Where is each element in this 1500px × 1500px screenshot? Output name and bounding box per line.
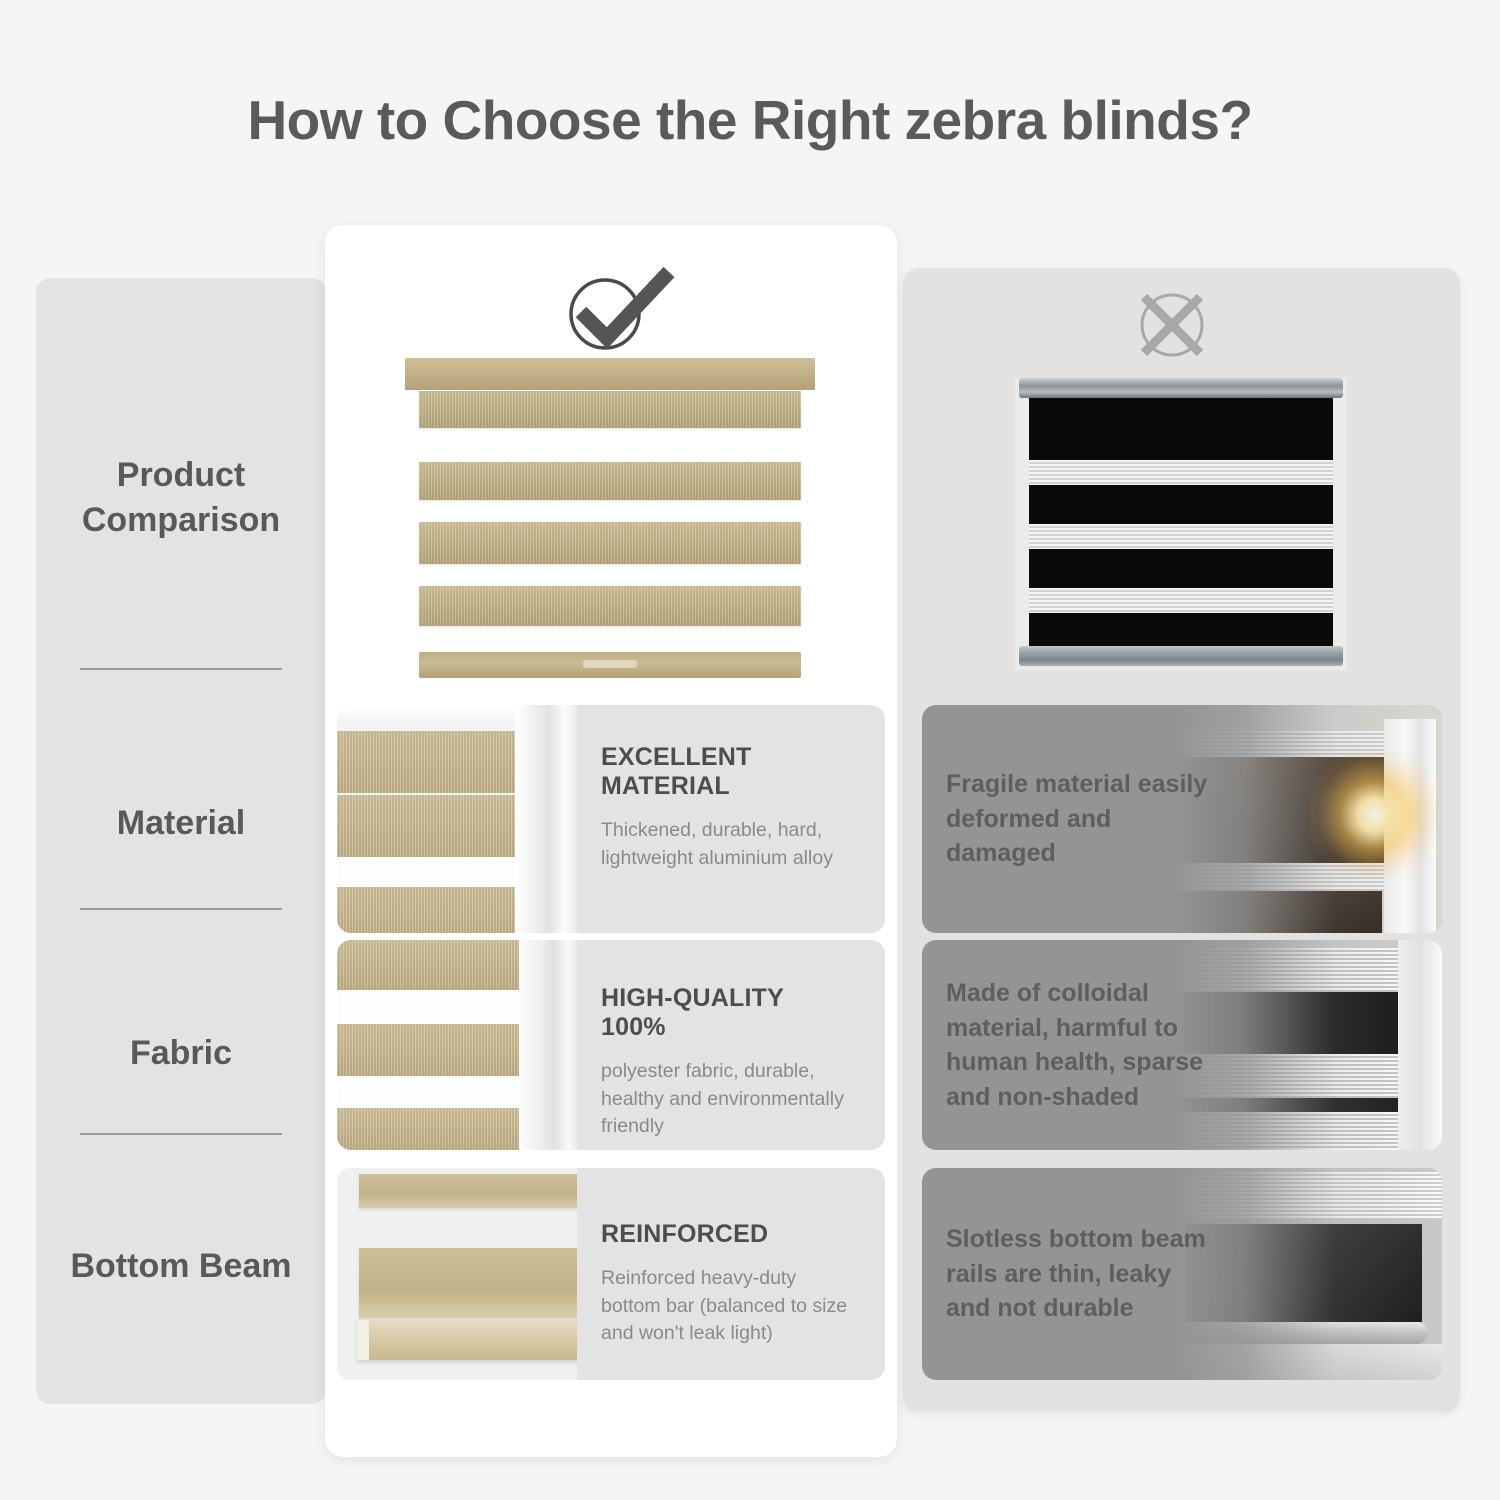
- blind-headrail: [1019, 378, 1343, 398]
- blind-headrail: [405, 358, 815, 390]
- feature-title: EXCELLENT MATERIAL: [601, 743, 855, 801]
- check-circle-icon: [551, 262, 681, 354]
- beige-blind-window-frame-photo: [337, 705, 577, 933]
- page-title: How to Choose the Right zebra blinds?: [0, 88, 1500, 152]
- good-feature-text: HIGH-QUALITY 100% polyester fabric, dura…: [577, 940, 885, 1150]
- blind-slat: [419, 586, 801, 626]
- bad-feature-material: Fragile material easily deformed and dam…: [922, 705, 1442, 933]
- beige-fabric-closeup-photo: [337, 940, 577, 1150]
- bad-feature-text: Slotless bottom beam rails are thin, lea…: [946, 1168, 1216, 1380]
- bad-feature-bottom-beam: Slotless bottom beam rails are thin, lea…: [922, 1168, 1442, 1380]
- row-label-fabric: Fabric: [36, 1003, 326, 1103]
- row-label-material: Material: [36, 773, 326, 873]
- blind-slat: [419, 522, 801, 564]
- row-divider: [80, 668, 282, 670]
- feature-description: Reinforced heavy-duty bottom bar (balanc…: [601, 1265, 855, 1348]
- feature-description: polyester fabric, durable, healthy and e…: [601, 1058, 855, 1141]
- blind-slat: [419, 391, 801, 428]
- bad-feature-text: Fragile material easily deformed and dam…: [946, 705, 1216, 933]
- feature-title: REINFORCED: [601, 1220, 855, 1249]
- bad-feature-fabric: Made of colloidal material, harmful to h…: [922, 940, 1442, 1150]
- blind-slat: [419, 462, 801, 500]
- good-feature-text: EXCELLENT MATERIAL Thickened, durable, h…: [577, 705, 885, 933]
- sheer-band: [1029, 460, 1333, 485]
- blind-grip: [583, 660, 637, 668]
- good-feature-material: EXCELLENT MATERIAL Thickened, durable, h…: [337, 705, 885, 933]
- sheer-band: [1029, 588, 1333, 613]
- feature-description: Thickened, durable, hard, lightweight al…: [601, 817, 855, 872]
- row-divider: [80, 1133, 282, 1135]
- good-feature-fabric: HIGH-QUALITY 100% polyester fabric, dura…: [337, 940, 885, 1150]
- reinforced-bottom-beam-photo: [337, 1168, 577, 1380]
- good-feature-bottom-beam: REINFORCED Reinforced heavy-duty bottom …: [337, 1168, 885, 1380]
- infographic-root: How to Choose the Right zebra blinds? Pr…: [0, 0, 1500, 1500]
- row-label-product-comparison: Product Comparison: [36, 428, 326, 568]
- bad-hero-blind-image: [1015, 378, 1347, 670]
- good-feature-text: REINFORCED Reinforced heavy-duty bottom …: [577, 1168, 885, 1380]
- row-divider: [80, 908, 282, 910]
- blind-bottom-bar: [1019, 646, 1343, 666]
- blind-fabric: [1029, 398, 1333, 646]
- feature-title: HIGH-QUALITY 100%: [601, 984, 855, 1042]
- good-hero-blind-image: [405, 358, 815, 696]
- cross-circle-icon: [1125, 283, 1220, 363]
- sheer-band: [1029, 524, 1333, 549]
- row-label-bottom-beam: Bottom Beam: [36, 1196, 326, 1336]
- row-label-rail: Product Comparison Material Fabric Botto…: [36, 278, 326, 1404]
- bad-feature-text: Made of colloidal material, harmful to h…: [946, 940, 1216, 1150]
